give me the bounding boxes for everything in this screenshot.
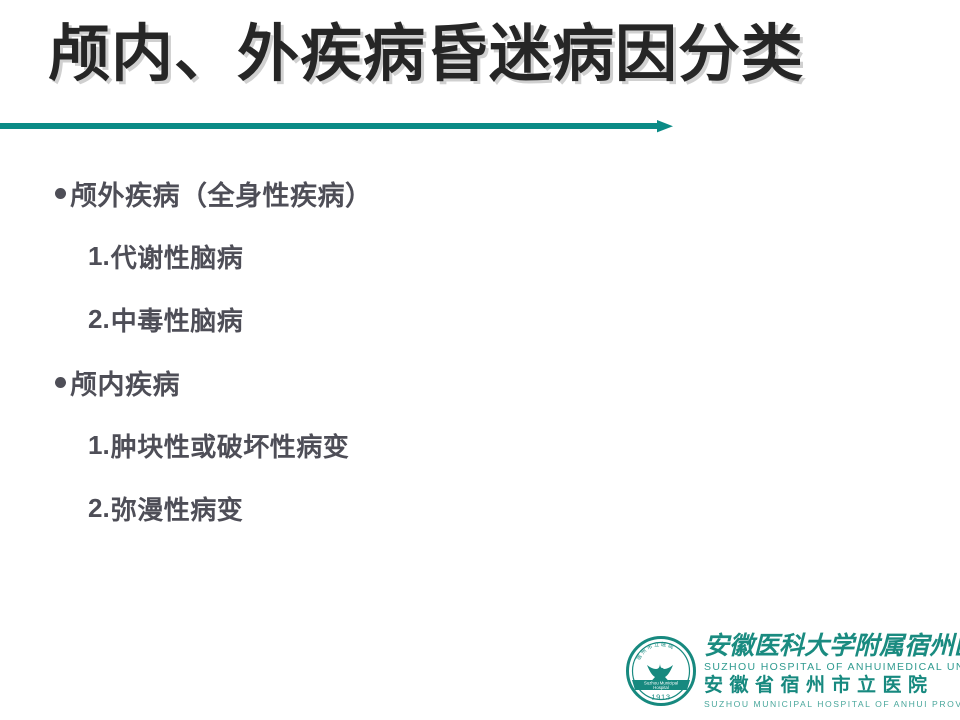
list-item-number: 2. [88,304,110,335]
slide-canvas: 颅内、外疾病昏迷病因分类 颅外疾病（全身性疾病） 1. 代谢性脑病 2. 中毒性… [0,0,960,720]
arrow-shape [0,120,673,132]
list-item: 2. 弥漫性病变 [0,477,900,540]
list-item-heading: 颅外疾病（全身性疾病） [0,162,900,225]
teal-arrow-divider [0,112,690,142]
hospital-logo-text: 安徽医科大学附属宿州医院 SUZHOU HOSPITAL OF ANHUIMED… [704,633,960,710]
list-item-number: 2. [88,493,110,524]
list-item-label: 肿块性或破坏性病变 [111,427,350,464]
logo-university-name-cn: 安徽医科大学附属宿州医院 [704,633,960,660]
hospital-emblem-icon: 宿州市立医院 Suzhou Municipal Hospital 1913 [624,634,698,708]
svg-text:Hospital: Hospital [653,685,669,690]
list-item-label: 弥漫性病变 [111,490,244,527]
hospital-logo: 宿州市立医院 Suzhou Municipal Hospital 1913 安徽… [624,630,954,712]
svg-text:1913: 1913 [651,693,670,702]
logo-university-name-en: SUZHOU HOSPITAL OF ANHUIMEDICAL UNIVERSI… [704,660,960,674]
list-item-label: 代谢性脑病 [111,238,244,275]
list-item: 2. 中毒性脑病 [0,288,900,351]
list-item-number: 1. [88,241,110,272]
logo-hospital-name-cn: 安徽省宿州市立医院 [704,674,960,698]
list-item-label: 颅外疾病（全身性疾病） [70,174,373,213]
logo-hospital-name-en: SUZHOU MUNICIPAL HOSPITAL OF ANHUI PROVI… [704,698,960,710]
list-item-number: 1. [88,430,110,461]
page-title: 颅内、外疾病昏迷病因分类 [48,14,928,96]
list-item: 1. 肿块性或破坏性病变 [0,414,900,477]
list-item-label: 颅内疾病 [70,363,180,402]
content-list: 颅外疾病（全身性疾病） 1. 代谢性脑病 2. 中毒性脑病 颅内疾病 1. 肿块… [0,162,900,540]
bullet-dot-icon [55,188,66,199]
bullet-dot-icon [55,377,66,388]
list-item: 1. 代谢性脑病 [0,225,900,288]
list-item-label: 中毒性脑病 [111,301,244,338]
list-item-heading: 颅内疾病 [0,351,900,414]
